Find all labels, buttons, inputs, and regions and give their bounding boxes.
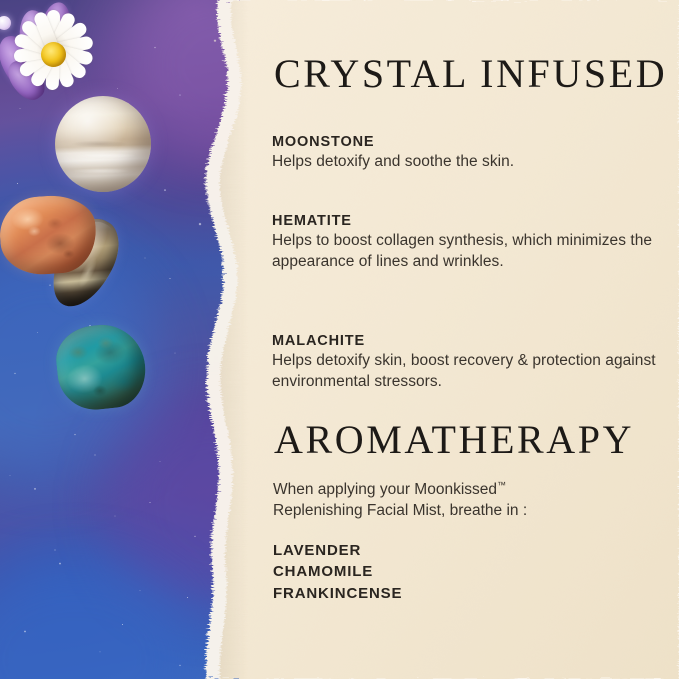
gem-block-moonstone: MOONSTONE Helps detoxify and soothe the … [272,134,664,173]
gem-name-moonstone: MOONSTONE [272,134,664,150]
gem-name-hematite: HEMATITE [272,213,664,229]
gem-description-hematite: Helps to boost collagen synthesis, which… [272,231,664,272]
scent-list-item: CHAMOMILE [273,561,402,582]
section-title-crystal-infused: CRYSTAL INFUSED [274,54,667,94]
gem-description-moonstone: Helps detoxify and soothe the skin. [272,152,664,173]
scent-list-item: LAVENDER [273,540,402,561]
aromatherapy-intro-line-1: When applying your Moonkissed [273,481,497,498]
gem-name-malachite: MALACHITE [272,333,664,349]
aromatherapy-intro-line-2: Replenishing Facial Mist, breathe in : [273,502,527,519]
trademark-symbol: ™ [497,480,506,490]
aromatherapy-intro: When applying your Moonkissed™ Replenish… [273,479,665,522]
scent-list: LAVENDER CHAMOMILE FRANKINCENSE [273,540,402,604]
section-title-aromatherapy: AROMATHERAPY [274,420,634,460]
scent-list-item: FRANKINCENSE [273,583,402,604]
gem-block-hematite: HEMATITE Helps to boost collagen synthes… [272,213,664,272]
product-infographic-page: CRYSTAL INFUSED MOONSTONE Helps detoxify… [0,0,679,679]
title-text: CRYSTAL INFUSED [274,51,667,96]
gem-block-malachite: MALACHITE Helps detoxify skin, boost rec… [272,333,664,392]
title-text: AROMATHERAPY [274,417,634,462]
gem-description-malachite: Helps detoxify skin, boost recovery & pr… [272,351,664,392]
text-content-panel: CRYSTAL INFUSED MOONSTONE Helps detoxify… [272,0,672,679]
